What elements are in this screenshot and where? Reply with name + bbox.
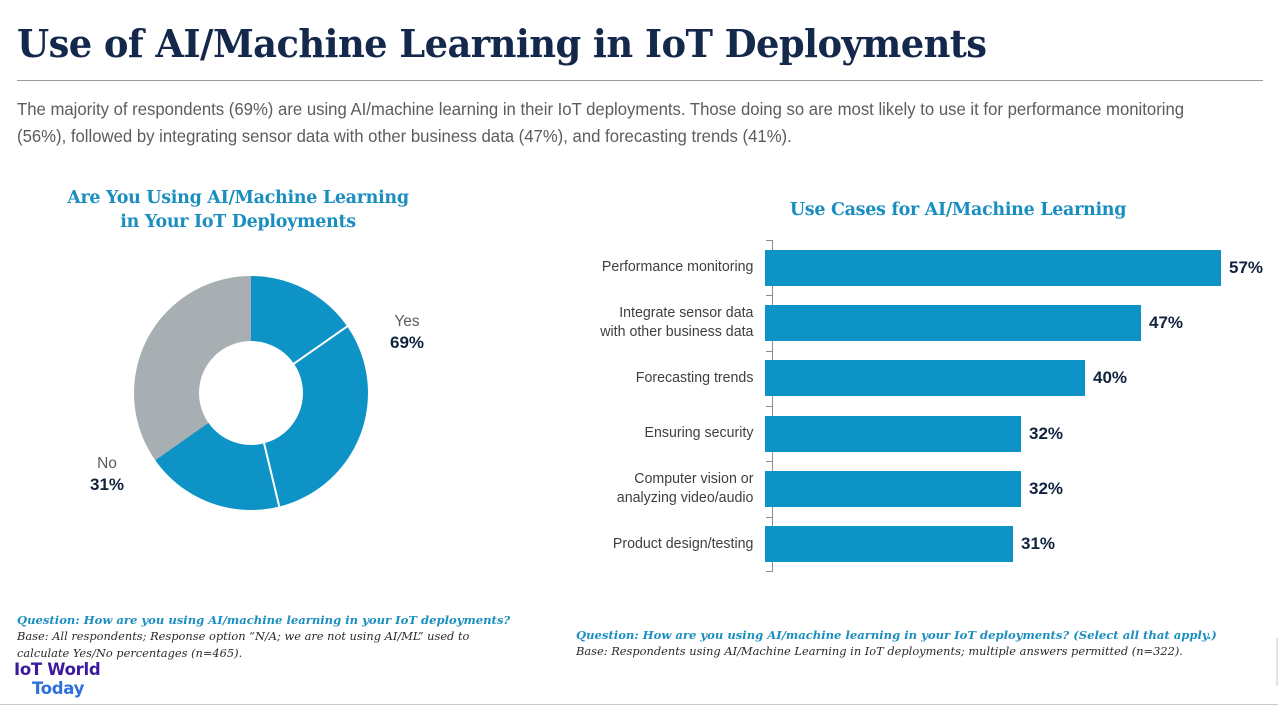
donut-chart-title-line2: in Your IoT Deployments (120, 212, 356, 232)
bar-row: Performance monitoring57% (592, 241, 1252, 295)
bar-row: Computer vision or analyzing video/audio… (592, 462, 1252, 516)
bar-row: Product design/testing31% (592, 517, 1252, 571)
footnote-left: Question: How are you using AI/machine l… (17, 612, 517, 661)
title-divider (17, 80, 1263, 81)
bar-row: Forecasting trends40% (592, 351, 1252, 405)
bar-category-label: Performance monitoring (599, 258, 764, 277)
donut-label-no-name: No (72, 453, 142, 474)
donut-label-yes-value: 69% (372, 332, 442, 353)
bar-row: Integrate sensor data with other busines… (592, 296, 1252, 350)
footnote-left-question: Question: How are you using AI/machine l… (17, 612, 517, 628)
bar-track: 31% (764, 517, 1252, 571)
logo-line-1: IoT World (14, 660, 154, 679)
bar-category-label: Forecasting trends (599, 369, 764, 388)
bar-category-label: Computer vision or analyzing video/audio (599, 470, 764, 508)
bar-track: 32% (764, 407, 1252, 461)
donut-label-no-value: 31% (72, 474, 142, 495)
bar-value-label: 32% (1029, 424, 1063, 444)
bar-fill (765, 416, 1021, 452)
bar-track: 40% (764, 351, 1252, 405)
footnote-right: Question: How are you using AI/machine l… (576, 627, 1236, 660)
bar-track: 57% (764, 241, 1252, 295)
bar-value-label: 32% (1029, 479, 1063, 499)
page-title: Use of AI/Machine Learning in IoT Deploy… (17, 22, 986, 66)
bar-category-label: Ensuring security (599, 424, 764, 443)
donut-label-yes: Yes 69% (372, 311, 442, 353)
donut-label-yes-name: Yes (372, 311, 442, 332)
donut-hole (199, 341, 303, 445)
bar-fill (765, 471, 1021, 507)
bar-value-label: 47% (1149, 313, 1183, 333)
iot-world-today-logo: IoT World Today (14, 660, 154, 698)
footnote-left-base: Base: All respondents; Response option “… (17, 628, 517, 661)
bar-value-label: 57% (1229, 258, 1263, 278)
donut-chart (134, 276, 368, 510)
donut-chart-title-line1: Are You Using AI/Machine Learning (67, 188, 409, 208)
page-subtitle: The majority of respondents (69%) are us… (17, 96, 1203, 150)
bar-category-label: Integrate sensor data with other busines… (599, 304, 764, 342)
bar-chart-title: Use Cases for AI/Machine Learning (680, 198, 1236, 222)
footnote-right-question: Question: How are you using AI/machine l… (576, 627, 1236, 643)
slide-canvas: Use of AI/Machine Learning in IoT Deploy… (0, 0, 1278, 705)
bar-row: Ensuring security32% (592, 407, 1252, 461)
bar-fill (765, 526, 1013, 562)
footnote-right-base: Base: Respondents using AI/Machine Learn… (576, 643, 1236, 660)
donut-chart-title: Are You Using AI/Machine Learning in You… (40, 186, 436, 234)
bar-track: 47% (764, 296, 1252, 350)
bar-fill (765, 250, 1221, 286)
bar-chart: Performance monitoring57%Integrate senso… (592, 240, 1252, 572)
bar-value-label: 31% (1021, 534, 1055, 554)
bar-category-label: Product design/testing (599, 535, 764, 554)
bar-track: 32% (764, 462, 1252, 516)
bar-fill (765, 305, 1141, 341)
donut-label-no: No 31% (72, 453, 142, 495)
bar-fill (765, 360, 1085, 396)
logo-line-2: Today (14, 679, 154, 698)
bar-value-label: 40% (1093, 368, 1127, 388)
